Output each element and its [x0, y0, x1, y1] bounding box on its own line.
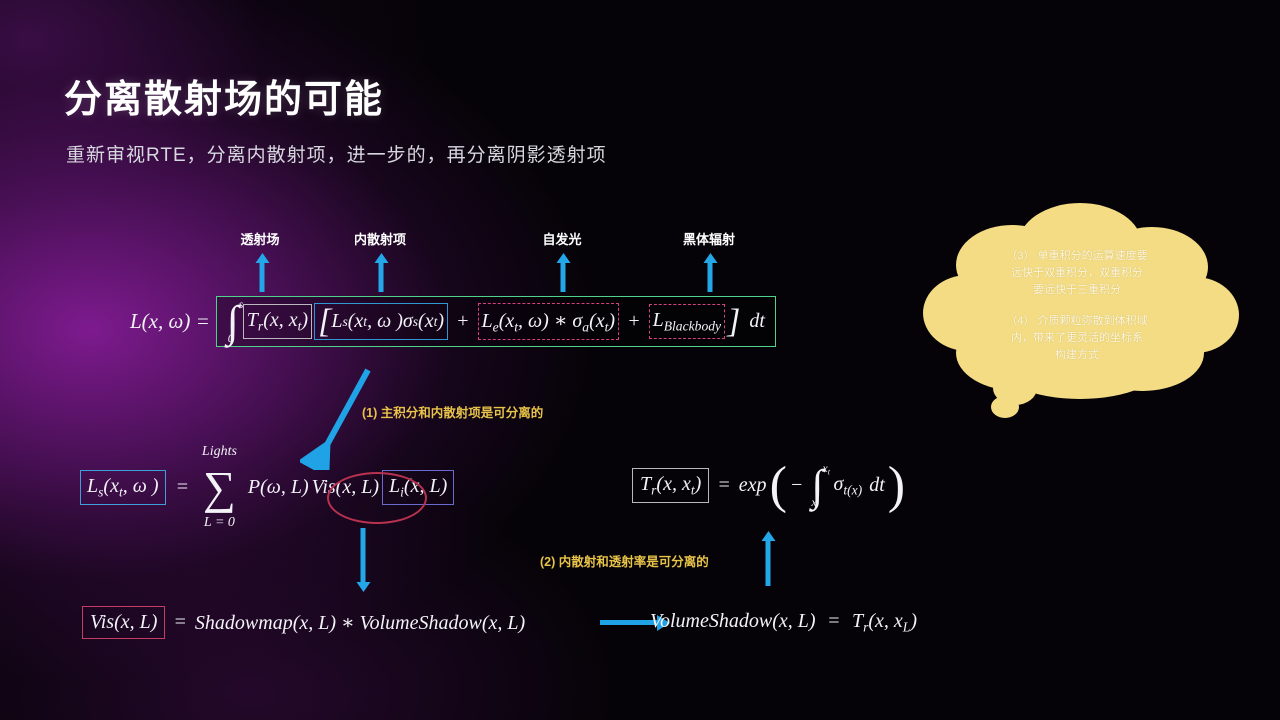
incident-radiance-box: Li(x, L): [382, 470, 454, 505]
bubble-line-5: 内，带来了更灵活的坐标系: [952, 330, 1202, 347]
volume-shadow-rhs: Tr(x, xL): [852, 610, 917, 632]
exp-function: exp: [739, 474, 767, 497]
visibility-equals: =: [173, 611, 187, 634]
term-label-emission: 自发光: [542, 229, 581, 248]
visibility-rhs: Shadowmap(x, L) ∗ VolumeShadow(x, L): [195, 610, 525, 635]
emission-term-box: Le(xt, ω) ∗ σa(xt): [478, 303, 620, 340]
transmittance-integral-lower: x: [811, 499, 816, 506]
inscatter-symbol: L: [331, 310, 342, 333]
transmittance-args-end: ): [301, 309, 308, 331]
plus-sign-2: +: [627, 310, 641, 333]
blackbody-symbol: L: [653, 309, 664, 331]
differential-dt: dt: [749, 310, 765, 333]
term-label-blackbody: 黑体辐射: [683, 229, 735, 248]
down-arrow-inscatter-to-vis: [361, 528, 366, 583]
radiance-args: (x, L): [404, 475, 447, 497]
transmittance-lhs-symbol: T: [640, 473, 651, 495]
plus-sign-1: +: [456, 310, 470, 333]
equation-volume-shadow: VolumeShadow(x, L) = Tr(x, xL): [650, 610, 917, 635]
inscatter-lhs-args-end: , ω ): [123, 475, 159, 497]
volume-shadow-lhs: VolumeShadow(x, L): [650, 610, 816, 632]
visibility-lhs-box: Vis(x, L): [82, 606, 165, 639]
inscatter-args: (x: [348, 310, 364, 333]
integral-symbol: ∫s0: [225, 308, 241, 335]
term-label-transmittance: 透射场: [240, 229, 279, 248]
summation-lower-limit: L = 0: [204, 518, 235, 528]
transmittance-term-box: Tr(x, xt): [243, 304, 312, 339]
note-1: (1) 主积分和内散射项是可分离的: [362, 402, 543, 421]
transmittance-args: (x, x: [263, 309, 297, 331]
transmittance-lhs-args: (x, x: [656, 473, 690, 495]
bubble-line-4: （4） 介质颗粒弥散到体积域: [952, 313, 1202, 330]
page-subtitle: 重新审视RTE，分离内散射项，进一步的，再分离阴影透射项: [66, 140, 607, 167]
inscatter-lhs-symbol: L: [87, 475, 98, 497]
emission-args-end: , ω) ∗ σ: [518, 310, 582, 332]
inscatter-lhs-args: (x: [103, 475, 119, 497]
up-arrow-emission: [561, 262, 566, 292]
summation-symbol: ∑ Lights L = 0: [203, 471, 236, 504]
transmittance-integral-upper: xt: [822, 465, 830, 475]
term-label-inscatter: 内散射项: [354, 229, 406, 248]
paren-open-big: (: [770, 471, 787, 500]
inscatter-lhs-box: Ls(xt, ω ): [80, 470, 166, 505]
blackbody-subscript: Blackbody: [664, 318, 721, 333]
equation-visibility: Vis(x, L) = Shadowmap(x, L) ∗ VolumeShad…: [82, 606, 525, 639]
blackbody-term-box: LBlackbody: [649, 304, 726, 339]
minus-sign: −: [790, 474, 804, 497]
transmittance-differential: dt: [869, 474, 885, 497]
radiance-symbol: L: [389, 475, 400, 497]
extinction-coefficient: σt(x): [833, 473, 862, 498]
bubble-line-6: 构建方式: [952, 347, 1202, 364]
integral-lower-limit: 0: [228, 335, 234, 342]
emission-symbol: L: [482, 310, 493, 332]
bubble-line-3: 要远快于三重积分: [952, 282, 1202, 299]
emission-sigma-args-end: ): [608, 310, 615, 332]
inscatter-sigma-args-end: ): [437, 310, 444, 333]
bubble-line-1: （3） 单重积分的运算速度要: [952, 248, 1202, 265]
bubble-text-gap: [952, 299, 1202, 313]
phase-function-term: P(ω, L): [248, 476, 309, 499]
page-title: 分离散射场的可能: [64, 68, 384, 123]
slide-canvas: 分离散射场的可能 重新审视RTE，分离内散射项，进一步的，再分离阴影透射项 透射…: [0, 0, 1280, 720]
up-arrow-transmittance: [260, 262, 265, 292]
transmittance-lhs-args-end: ): [695, 473, 702, 495]
up-arrow-transmittance-link: [766, 540, 771, 586]
transmittance-equals: =: [717, 474, 731, 497]
transmittance-lhs-box: Tr(x, xt): [632, 468, 709, 503]
emission-args: (x: [499, 310, 515, 332]
bracket-open: [: [318, 308, 331, 335]
visibility-term: Vis(x, L): [309, 476, 382, 499]
inscatter-equals: =: [176, 476, 190, 499]
volume-shadow-equals: =: [827, 610, 841, 632]
emission-sigma-args: (x: [589, 310, 605, 332]
inscatter-sigma-args: (x: [418, 310, 434, 333]
up-arrow-inscatter: [379, 262, 384, 292]
equation-transmittance: Tr(x, xt) = exp ( − ∫xtx σt(x) dt ): [632, 468, 905, 503]
summation-upper-limit: Lights: [202, 447, 237, 457]
thought-bubble-text: （3） 单重积分的运算速度要 远快于双重积分，双重积分 要远快于三重积分 （4）…: [952, 248, 1202, 364]
inscatter-args-end: , ω )σ: [367, 310, 413, 333]
paren-close-big: ): [888, 471, 905, 500]
integral-upper-limit: s: [239, 301, 244, 308]
inscatter-term-box: [Ls(xt, ω )σs(xt): [314, 303, 448, 340]
note-2: (2) 内散射和透射率是可分离的: [540, 551, 709, 570]
equation-rte-green-box: ∫s0 Tr(x, xt) [Ls(xt, ω )σs(xt) + Le(xt,…: [216, 296, 776, 347]
equation-rte-lhs: L(x, ω) =: [130, 309, 210, 334]
up-arrow-blackbody: [708, 262, 713, 292]
equation-inscatter-expansion: Ls(xt, ω ) = ∑ Lights L = 0 P(ω, L) Vis(…: [80, 470, 454, 505]
sigma-glyph: ∑: [203, 462, 236, 513]
transmittance-symbol: T: [247, 309, 258, 331]
bracket-close: ]: [727, 308, 740, 335]
transmittance-integral-symbol: ∫xtx: [809, 472, 825, 499]
bubble-line-2: 远快于双重积分，双重积分: [952, 265, 1202, 282]
equation-rte: L(x, ω) = ∫s0 Tr(x, xt) [Ls(xt, ω )σs(xt…: [130, 296, 776, 347]
